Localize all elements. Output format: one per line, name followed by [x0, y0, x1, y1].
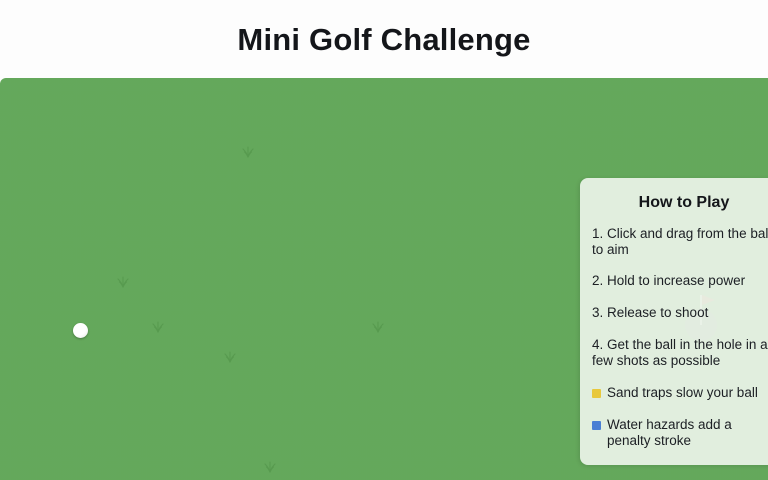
legend-item-water: Water hazards add a penalty stroke	[592, 417, 768, 449]
instructions-panel: How to Play 1. Click and drag from the b…	[580, 178, 768, 465]
instruction-step: 3. Release to shoot	[592, 305, 768, 321]
water-swatch-icon	[592, 421, 601, 430]
instruction-step: 1. Click and drag from the ball to aim	[592, 226, 768, 258]
legend-label: Sand traps slow your ball	[607, 385, 768, 401]
instruction-step: 4. Get the ball in the hole in as few sh…	[592, 337, 768, 369]
golf-ball[interactable]	[73, 323, 88, 338]
grass-tuft-icon	[262, 458, 278, 474]
mini-golf-app: Mini Golf Challenge How to Play 1. Click…	[0, 0, 768, 480]
sand-swatch-icon	[592, 389, 601, 398]
legend-list: Sand traps slow your ballWater hazards a…	[592, 385, 768, 449]
page-title: Mini Golf Challenge	[237, 24, 530, 57]
course-area[interactable]: How to Play 1. Click and drag from the b…	[0, 78, 768, 480]
instruction-steps: 1. Click and drag from the ball to aim2.…	[592, 226, 768, 370]
page-header: Mini Golf Challenge	[0, 0, 768, 80]
legend-item-sand: Sand traps slow your ball	[592, 385, 768, 401]
legend-label: Water hazards add a penalty stroke	[607, 417, 768, 449]
grass-tuft-icon	[115, 273, 131, 289]
instruction-step: 2. Hold to increase power	[592, 273, 768, 289]
instructions-title: How to Play	[592, 194, 768, 212]
grass-tuft-icon	[150, 318, 166, 334]
grass-tuft-icon	[240, 143, 256, 159]
grass-tuft-icon	[222, 348, 238, 364]
grass-tuft-icon	[370, 318, 386, 334]
